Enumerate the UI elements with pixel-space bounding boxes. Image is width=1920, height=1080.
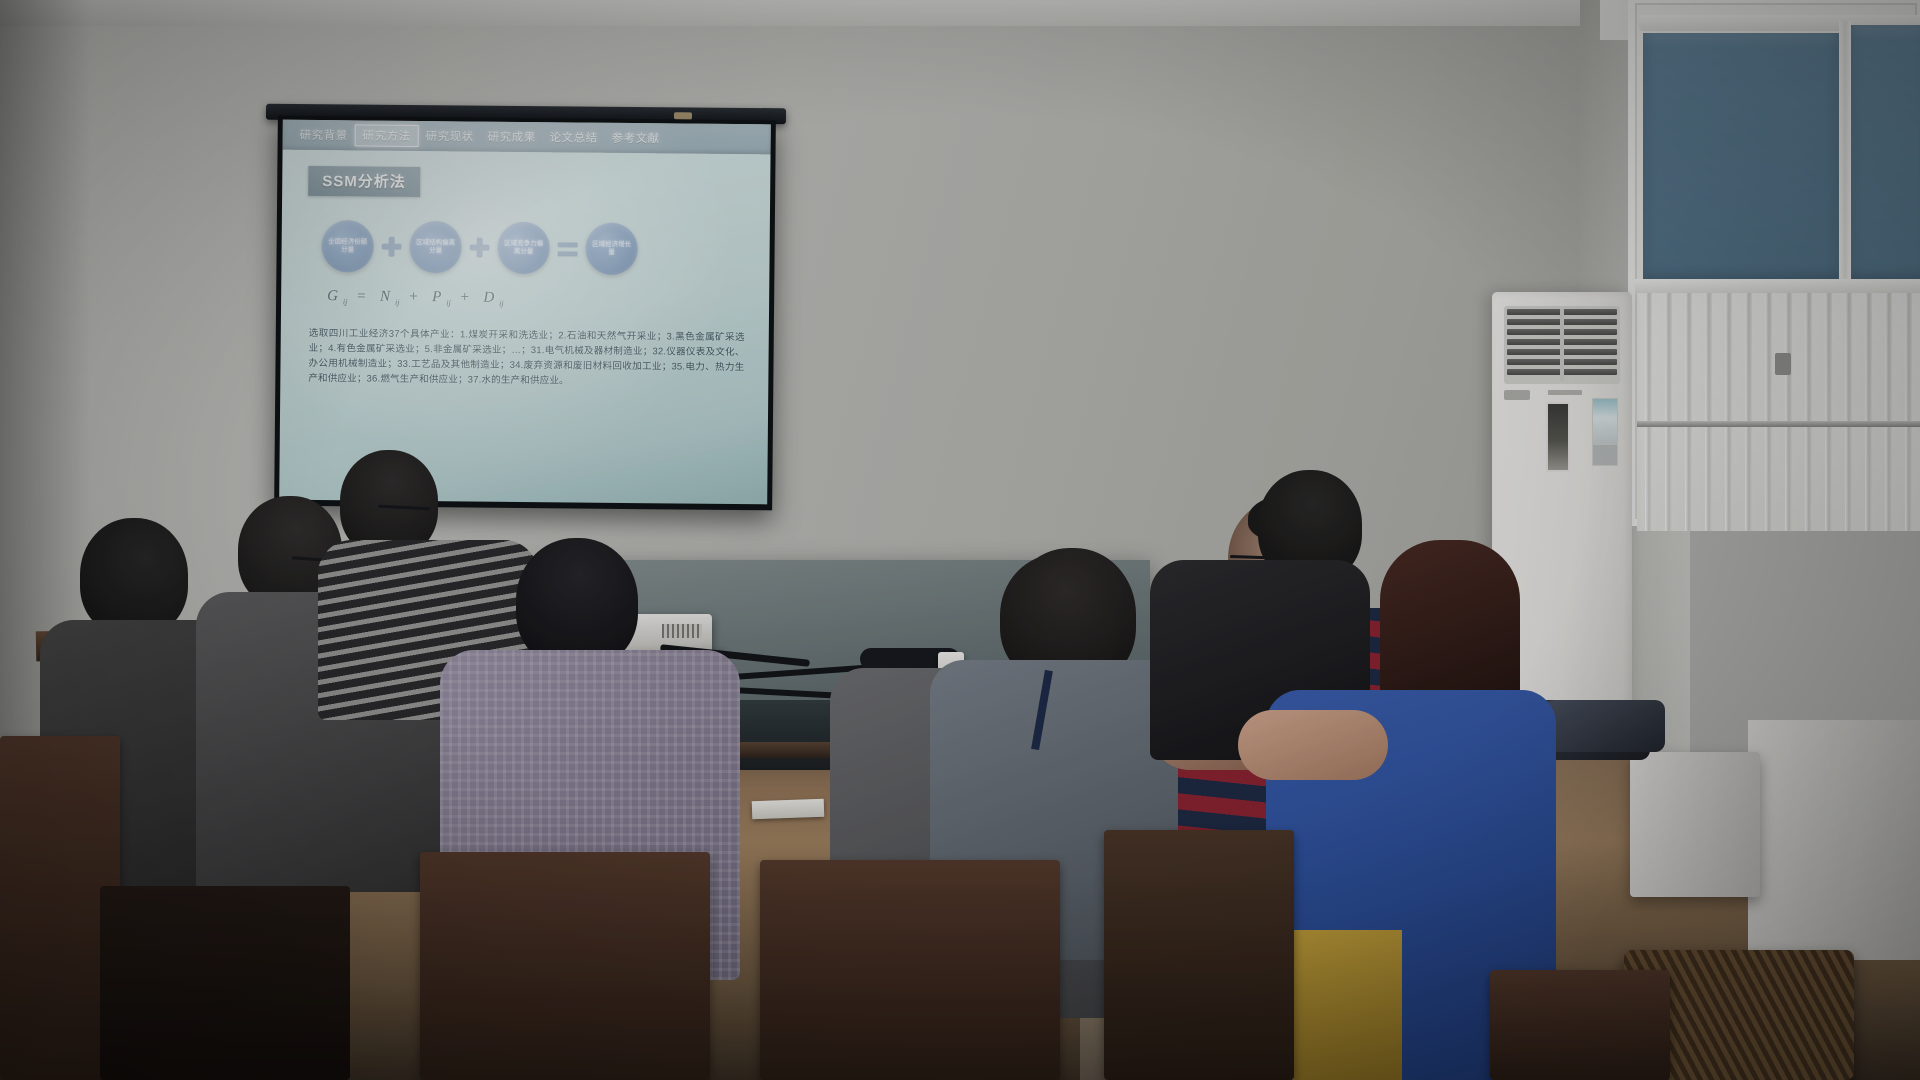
diagram-circle-regional-growth: 区域经济增长量 (585, 223, 637, 275)
chair-left[interactable] (100, 886, 350, 1080)
dress-yellow-panel (1292, 930, 1402, 1080)
handout-paper-center (752, 799, 825, 820)
chair-right[interactable] (1104, 830, 1294, 1080)
meeting-room-photograph: 研究背景 研究方法 研究现状 研究成果 论文总结 参考文献 SSM分析法 全国经… (0, 0, 1920, 1080)
diagram-equals-icon (558, 238, 578, 258)
chair-front-center[interactable] (760, 860, 1060, 1080)
air-conditioner-grille (1504, 306, 1620, 384)
chair-front-left[interactable] (420, 852, 710, 1080)
slide-content: SSM分析法 全国经济份额分量 区域结构偏离分量 区域竞争力偏离分量 (280, 150, 770, 401)
side-cabinet (1748, 720, 1920, 960)
projection-screen: 研究背景 研究方法 研究现状 研究成果 论文总结 参考文献 SSM分析法 全国经… (274, 116, 776, 511)
diagram-circle-structural-shift: 区域结构偏离分量 (409, 221, 461, 273)
handbag-on-chair (1545, 700, 1665, 752)
ssm-decomposition-diagram: 全国经济份额分量 区域结构偏离分量 区域竞争力偏离分量 区域经济增长量 (321, 220, 749, 276)
ssm-formula: Gij = Nij + Pij + Dij (327, 288, 749, 310)
window-latch[interactable] (1775, 353, 1791, 375)
window-blind-right[interactable] (1849, 25, 1920, 283)
window-frame (1628, 0, 1920, 526)
slide-title: SSM分析法 (308, 166, 420, 197)
person-far-left-head (80, 518, 188, 636)
window-security-bars (1637, 293, 1920, 531)
air-conditioner-energy-label (1592, 398, 1618, 446)
slide-tab-methods[interactable]: 研究方法 (355, 124, 419, 147)
projector-vent (662, 624, 702, 638)
screen-pull-knob[interactable] (674, 112, 692, 119)
waste-bin (1630, 752, 1760, 897)
slide-nav-bar: 研究背景 研究方法 研究现状 研究成果 论文总结 参考文献 (283, 120, 771, 155)
presentation-slide: 研究背景 研究方法 研究现状 研究成果 论文总结 参考文献 SSM分析法 全国经… (279, 120, 771, 505)
person-lavender-check-head (516, 538, 638, 668)
chair-far-right[interactable] (1490, 970, 1670, 1080)
slide-tab-results[interactable]: 研究成果 (481, 126, 543, 149)
wall-top-strip (0, 0, 1640, 26)
diagram-plus-icon-1 (382, 237, 402, 257)
slide-tab-references[interactable]: 参考文献 (605, 127, 667, 150)
slide-tab-background[interactable]: 研究背景 (293, 124, 355, 147)
window-mullion (1839, 21, 1851, 287)
slide-body-text: 选取四川工业经济37个具体产业：1.煤炭开采和洗选业；2.石油和天然气开采业；3… (308, 326, 745, 390)
slide-tab-status[interactable]: 研究现状 (419, 125, 481, 148)
diagram-circle-competitive-shift: 区域竞争力偏离分量 (497, 222, 549, 274)
slide-tab-conclusion[interactable]: 论文总结 (543, 126, 605, 149)
air-conditioner-display-panel[interactable] (1546, 402, 1570, 472)
diagram-circle-national-share: 全国经济份额分量 (321, 220, 373, 272)
air-conditioner-sticker (1592, 444, 1618, 466)
window-blind-left[interactable] (1643, 33, 1839, 283)
air-conditioner-logo (1504, 390, 1530, 400)
air-conditioner-brand-text (1548, 390, 1582, 395)
diagram-plus-icon-2 (470, 237, 490, 257)
person-far-right-woman-arm (1238, 710, 1388, 780)
